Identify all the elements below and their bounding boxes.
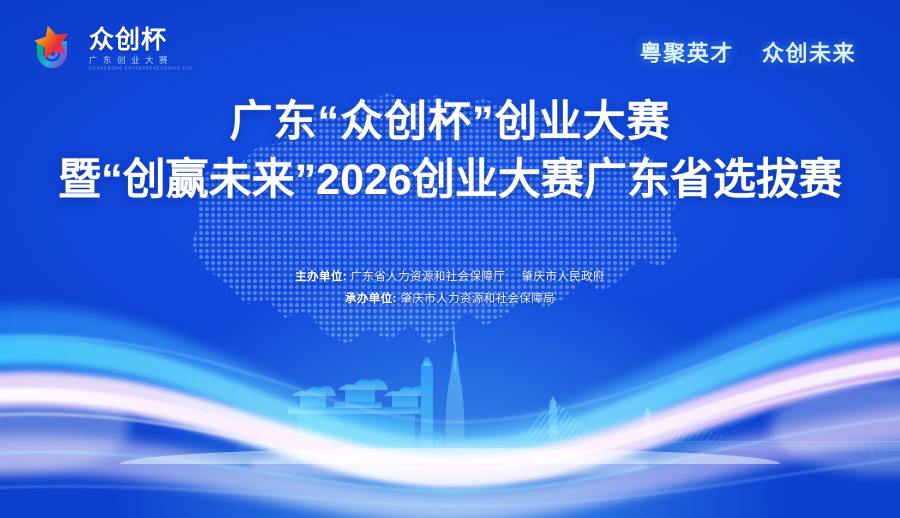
slogan-part-2: 众创未来	[762, 41, 856, 66]
slogan-part-1: 粤聚英才	[640, 41, 734, 66]
logo-name: 众创杯	[89, 27, 194, 53]
zhongchuangbei-star-logo	[24, 20, 80, 76]
organizers: 主办单位: 广东省人力资源和社会保障厅 肇庆市人民政府 承办单位: 肇庆市人力资…	[0, 266, 900, 311]
logo[interactable]: 众创杯 广东创业大赛 GUANGDONG ENTREPRENEURSHIP CU…	[24, 20, 194, 76]
glow-center	[250, 448, 650, 480]
title-line-1: 广东“众创杯”创业大赛	[0, 98, 900, 148]
organizer-label-undertaker: 承办单位:	[345, 293, 397, 305]
logo-subtitle-en: GUANGDONG ENTREPRENEURSHIP CUP	[89, 67, 194, 71]
event-poster: 众创杯 广东创业大赛 GUANGDONG ENTREPRENEURSHIP CU…	[0, 0, 900, 518]
organizer-value-undertaker-1: 肇庆市人力资源和社会保障局	[400, 293, 555, 305]
organizer-label-host: 主办单位:	[295, 271, 347, 283]
page-title: 广东“众创杯”创业大赛 暨“创赢未来”2026创业大赛广东省选拔赛	[0, 98, 900, 206]
organizer-value-host-2: 肇庆市人民政府	[522, 271, 605, 283]
organizer-row-host: 主办单位: 广东省人力资源和社会保障厅 肇庆市人民政府	[0, 266, 900, 288]
light-streak-waves	[0, 278, 900, 518]
organizer-value-host-1: 广东省人力资源和社会保障厅	[351, 271, 506, 283]
slogan: 粤聚英才 众创未来	[640, 36, 856, 68]
logo-text: 众创杯 广东创业大赛 GUANGDONG ENTREPRENEURSHIP CU…	[89, 25, 194, 71]
title-line-2: 暨“创赢未来”2026创业大赛广东省选拔赛	[0, 156, 900, 206]
organizer-row-undertaker: 承办单位: 肇庆市人力资源和社会保障局	[0, 288, 900, 310]
logo-subtitle-cn: 广东创业大赛	[89, 56, 194, 65]
